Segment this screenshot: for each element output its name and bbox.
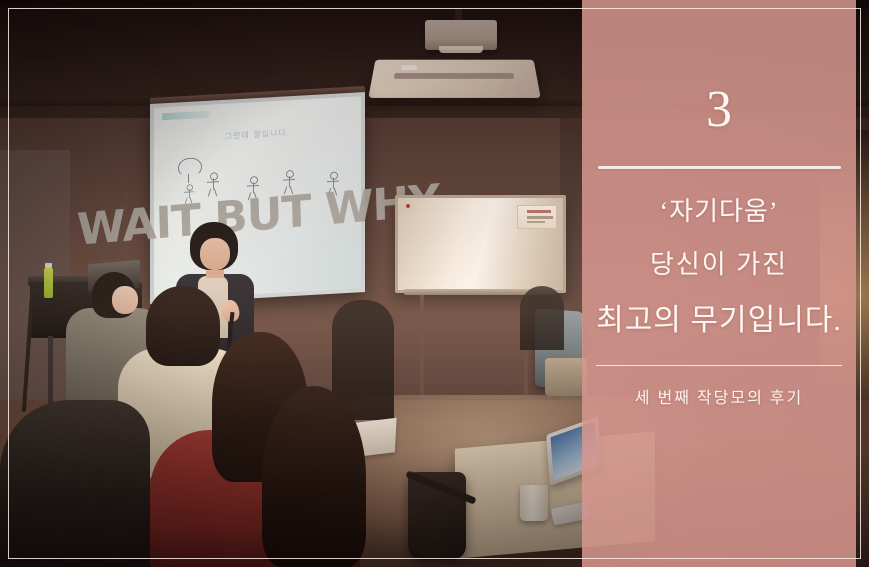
panel-caption: 세 번째 작당모의 후기	[635, 384, 803, 408]
photo-card: 그런데 말입니다.	[0, 0, 869, 567]
headline-emphasis: 최고의 무기입니다.	[582, 295, 856, 339]
left-wall	[0, 150, 70, 400]
divider-thick	[598, 166, 841, 169]
headline-quote: ‘자기다움’	[582, 191, 856, 228]
divider-thin	[596, 365, 842, 366]
audience-member	[146, 286, 220, 366]
audience-member	[112, 286, 138, 314]
audience-member	[520, 286, 564, 350]
ac-indicator-light	[401, 65, 417, 70]
session-number: 3	[706, 84, 732, 136]
whiteboard-poster	[517, 205, 557, 229]
audience-member	[262, 386, 366, 567]
slide-heading: 그런데 말입니다.	[225, 127, 291, 142]
handbag	[408, 472, 466, 560]
headline-middle: 당신이 가진	[582, 244, 856, 281]
ac-vent-slot	[394, 73, 514, 79]
whiteboard-stand	[420, 287, 530, 395]
paper-cup	[520, 485, 548, 521]
magnet-icon	[406, 204, 410, 208]
ceiling-projector-icon	[425, 20, 497, 50]
audience-member	[0, 400, 150, 567]
whiteboard	[395, 195, 566, 293]
drink-bottle	[44, 268, 53, 298]
chair-seat	[545, 358, 587, 396]
slide-logo-icon	[162, 111, 210, 121]
text-panel: 3 ‘자기다움’ 당신이 가진 최고의 무기입니다. 세 번째 작당모의 후기	[582, 0, 856, 567]
ceiling-air-conditioner-icon	[368, 60, 540, 98]
panel-text-block: ‘자기다움’ 당신이 가진 최고의 무기입니다.	[582, 169, 856, 339]
parachute-icon	[176, 157, 202, 192]
